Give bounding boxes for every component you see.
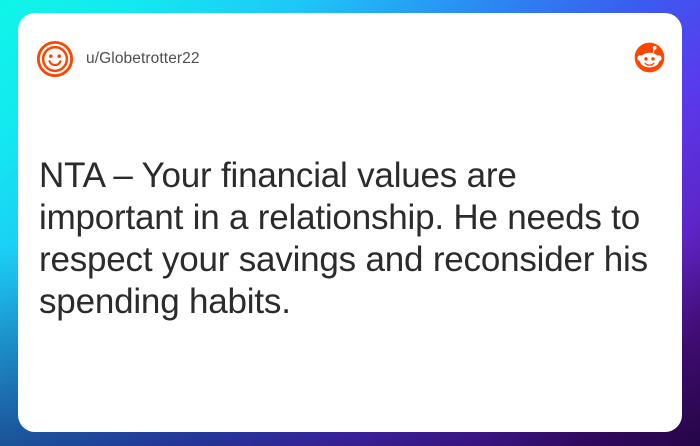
smiley-face-avatar-icon[interactable] bbox=[36, 40, 74, 78]
card-header: u/Globetrotter22 bbox=[18, 13, 682, 108]
screenshot-canvas: u/Globetrotter22 bbox=[0, 0, 700, 446]
reddit-comment-card: u/Globetrotter22 bbox=[18, 13, 682, 432]
post-body-text: NTA – Your financial values are importan… bbox=[39, 155, 658, 323]
reddit-snoo-logo-icon[interactable] bbox=[632, 40, 667, 75]
username-label: u/Globetrotter22 bbox=[86, 50, 200, 68]
